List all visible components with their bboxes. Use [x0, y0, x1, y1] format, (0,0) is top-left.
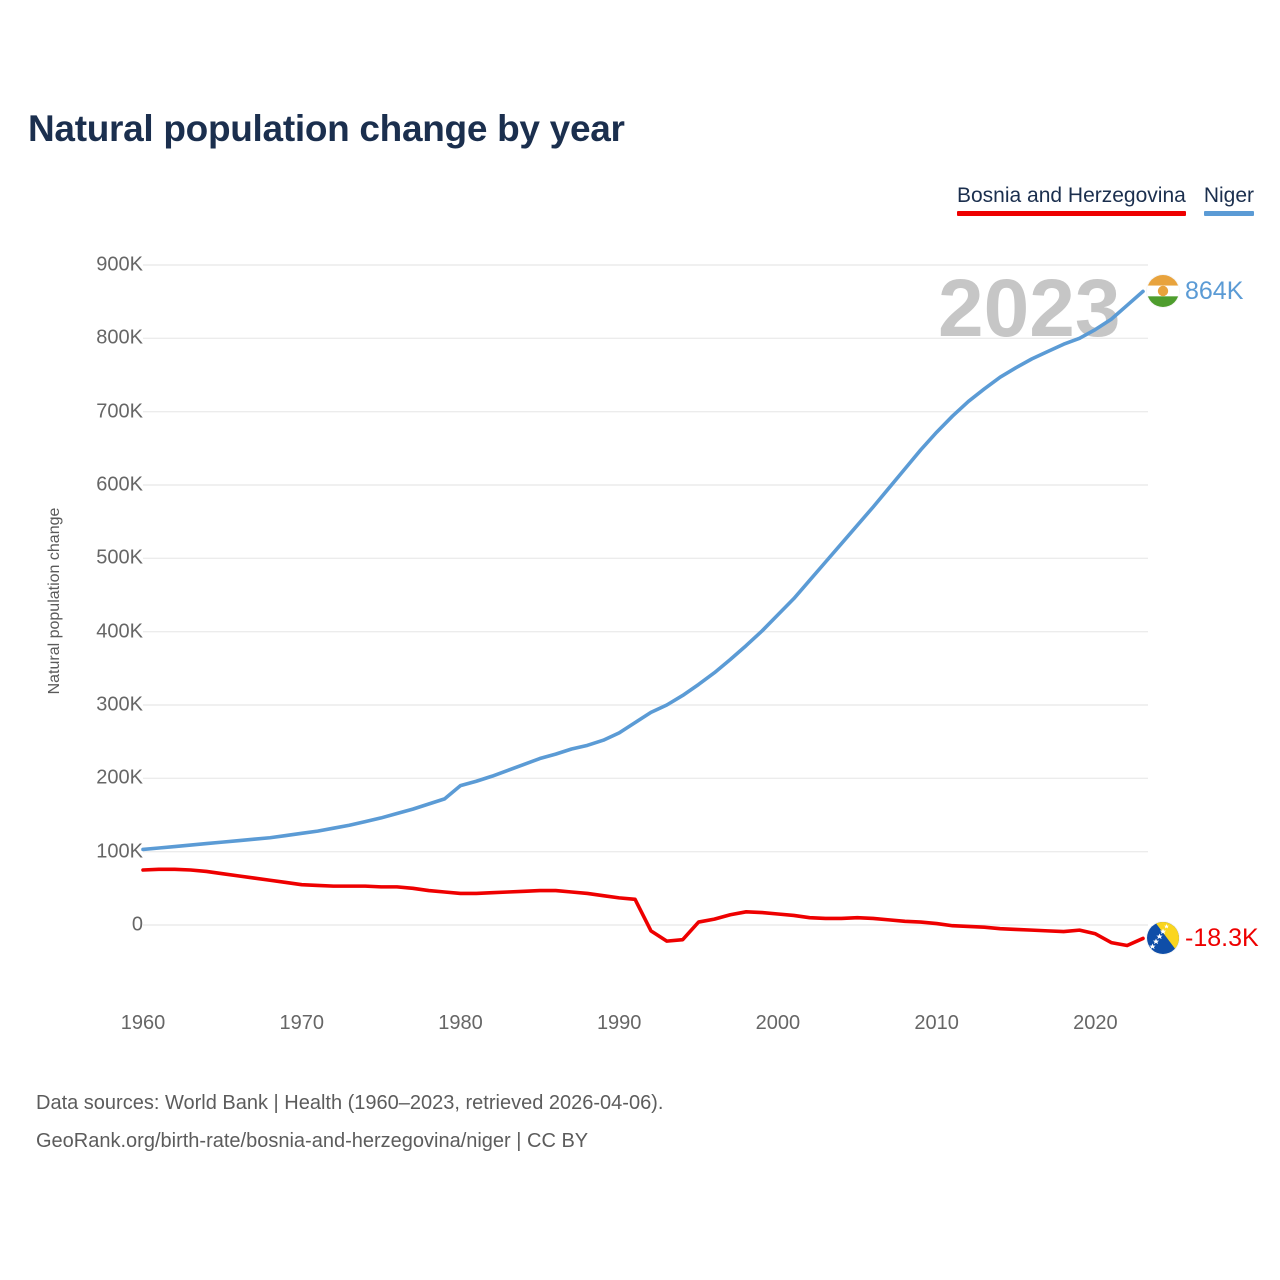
bosnia-flag-icon	[1147, 922, 1179, 954]
footer-line-sources: Data sources: World Bank | Health (1960–…	[36, 1084, 663, 1122]
y-tick-label: 900K	[43, 254, 143, 277]
footer-attribution: Data sources: World Bank | Health (1960–…	[36, 1084, 663, 1160]
x-tick-label: 1990	[597, 1012, 642, 1035]
y-tick-label: 300K	[43, 694, 143, 717]
legend-item-niger[interactable]: Niger	[1204, 184, 1254, 216]
series-line-niger	[143, 291, 1143, 849]
chart-page: Natural population change by year Bosnia…	[0, 0, 1280, 1280]
legend-color-rule-niger	[1204, 211, 1254, 216]
y-tick-label: 700K	[43, 400, 143, 423]
endpoint-value-niger: 864K	[1185, 277, 1243, 306]
legend-label-niger: Niger	[1204, 184, 1254, 208]
chart-legend: Bosnia and Herzegovina Niger	[957, 184, 1254, 216]
legend-item-bosnia-and-herzegovina[interactable]: Bosnia and Herzegovina	[957, 184, 1186, 216]
legend-color-rule-bosnia-and-herzegovina	[957, 211, 1186, 216]
y-tick-label: 500K	[43, 547, 143, 570]
y-tick-label: 600K	[43, 474, 143, 497]
endpoint-marker-niger: 864K	[1147, 275, 1243, 307]
y-tick-label: 400K	[43, 620, 143, 643]
x-tick-label: 2020	[1073, 1012, 1118, 1035]
y-tick-label: 200K	[43, 767, 143, 790]
endpoint-value-bosnia-and-herzegovina: -18.3K	[1185, 924, 1259, 953]
x-tick-label: 1960	[121, 1012, 166, 1035]
niger-flag-icon	[1147, 275, 1179, 307]
legend-label-bosnia-and-herzegovina: Bosnia and Herzegovina	[957, 184, 1186, 208]
y-tick-label: 0	[43, 914, 143, 937]
footer-line-url: GeoRank.org/birth-rate/bosnia-and-herzeg…	[36, 1122, 663, 1160]
x-tick-label: 2000	[756, 1012, 801, 1035]
endpoint-marker-bosnia-and-herzegovina: -18.3K	[1147, 922, 1259, 954]
x-tick-label: 2010	[914, 1012, 959, 1035]
x-tick-label: 1970	[279, 1012, 324, 1035]
y-tick-label: 800K	[43, 327, 143, 350]
year-watermark: 2023	[938, 268, 1120, 350]
series-line-bosnia-and-herzegovina	[143, 869, 1143, 945]
x-tick-label: 1980	[438, 1012, 483, 1035]
y-tick-label: 100K	[43, 840, 143, 863]
